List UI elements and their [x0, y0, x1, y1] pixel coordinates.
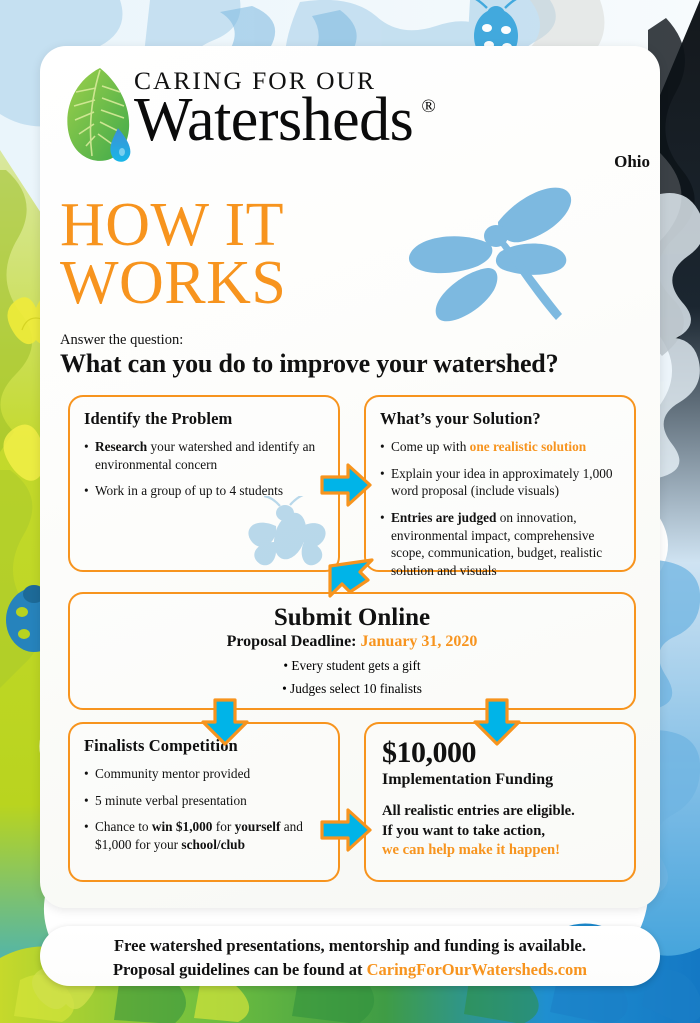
footer-line-1: Free watershed presentations, mentorship… — [40, 926, 660, 956]
funding-cta-line3: we can help make it happen! — [382, 841, 618, 861]
page-title-line2: WORKS — [60, 254, 286, 312]
bullet-text: 5 minute verbal presentation — [95, 793, 247, 808]
list-item: Entries are judged on innovation, enviro… — [380, 509, 620, 580]
bullet-bold-text: Entries are judged — [391, 510, 496, 525]
footer-banner: Free watershed presentations, mentorship… — [40, 926, 660, 986]
dragonfly-icon — [370, 186, 600, 346]
arrow-submit-to-funding — [472, 698, 522, 746]
list-item: Chance to win $1,000 for yourself and $1… — [84, 818, 324, 853]
brand-header: CARING FOR OUR Watersheds ® Ohio — [62, 60, 658, 190]
funding-cta-line2: If you want to take action, — [382, 822, 618, 842]
list-item: • Judges select 10 finalists — [84, 681, 620, 697]
bullet-bold-text: school/club — [181, 837, 245, 852]
step-finalists-bullets: Community mentor provided 5 minute verba… — [84, 765, 324, 854]
brand-title-text: Watersheds — [134, 86, 413, 154]
bullet-text: Community mentor provided — [95, 766, 250, 781]
list-item: Come up with one realistic solution — [380, 438, 620, 456]
arrow-submit-to-finalists — [200, 698, 250, 746]
bullet-text: Come up with — [391, 439, 470, 454]
footer-line-2: Proposal guidelines can be found at Cari… — [40, 956, 660, 980]
deadline-value: January 31, 2020 — [361, 633, 478, 650]
leaf-with-water-drop-icon — [62, 66, 140, 170]
step-whats-your-solution: What’s your Solution? Come up with one r… — [364, 395, 636, 572]
list-item: Research your watershed and identify an … — [84, 438, 324, 473]
step-solution-bullets: Come up with one realistic solution Expl… — [380, 438, 620, 580]
list-item: Community mentor provided — [84, 765, 324, 783]
deadline-label: Proposal Deadline: — [227, 633, 357, 650]
registered-mark: ® — [421, 98, 435, 117]
list-item: Explain your idea in approximately 1,000… — [380, 465, 620, 500]
question-prompt: Answer the question: — [60, 332, 183, 349]
question-text: What can you do to improve your watershe… — [60, 349, 558, 379]
bullet-accent-text: one realistic solution — [470, 439, 586, 454]
footer-line-2-prefix: Proposal guidelines can be found at — [113, 960, 367, 979]
arrow-finalists-to-funding — [318, 804, 374, 856]
proposal-deadline: Proposal Deadline: January 31, 2020 — [84, 633, 620, 651]
funding-cta-line1: All realistic entries are eligible. — [382, 802, 618, 822]
page-title-line1: HOW IT — [60, 196, 286, 254]
list-item: 5 minute verbal presentation — [84, 792, 324, 810]
step-implementation-funding: $10,000 Implementation Funding All reali… — [364, 722, 636, 882]
bullet-bold-text: Research — [95, 439, 147, 454]
bullet-bold-text: win $1,000 — [152, 819, 213, 834]
arrow-identify-to-solution — [318, 459, 374, 511]
step-submit-bullets: • Every student gets a gift • Judges sel… — [84, 658, 620, 697]
step-identify-heading: Identify the Problem — [84, 409, 324, 429]
funding-cta: All realistic entries are eligible. If y… — [382, 802, 618, 861]
bullet-bold-text: yourself — [235, 819, 281, 834]
bullet-text: for — [212, 819, 234, 834]
brand-title: Watersheds ® — [134, 90, 413, 151]
brand-wordmark: CARING FOR OUR Watersheds ® — [134, 68, 413, 150]
step-identify-bullets: Research your watershed and identify an … — [84, 438, 324, 500]
region-label: Ohio — [614, 152, 650, 172]
step-submit-heading: Submit Online — [84, 604, 620, 632]
step-submit-online: Submit Online Proposal Deadline: January… — [68, 592, 636, 710]
bullet-text: Chance to — [95, 819, 152, 834]
step-solution-heading: What’s your Solution? — [380, 409, 620, 429]
bullet-text: Explain your idea in approximately 1,000… — [391, 466, 613, 499]
arrow-solution-to-submit — [324, 554, 380, 608]
list-item: • Every student gets a gift — [84, 658, 620, 674]
funding-subtitle: Implementation Funding — [382, 771, 618, 789]
step-identify-the-problem: Identify the Problem Research your water… — [68, 395, 340, 572]
website-link[interactable]: CaringForOurWatersheds.com — [367, 960, 587, 979]
step-finalists-competition: Finalists Competition Community mentor p… — [68, 722, 340, 882]
main-content-panel: CARING FOR OUR Watersheds ® Ohio HOW IT … — [40, 46, 660, 908]
page-title: HOW IT WORKS — [60, 196, 286, 313]
